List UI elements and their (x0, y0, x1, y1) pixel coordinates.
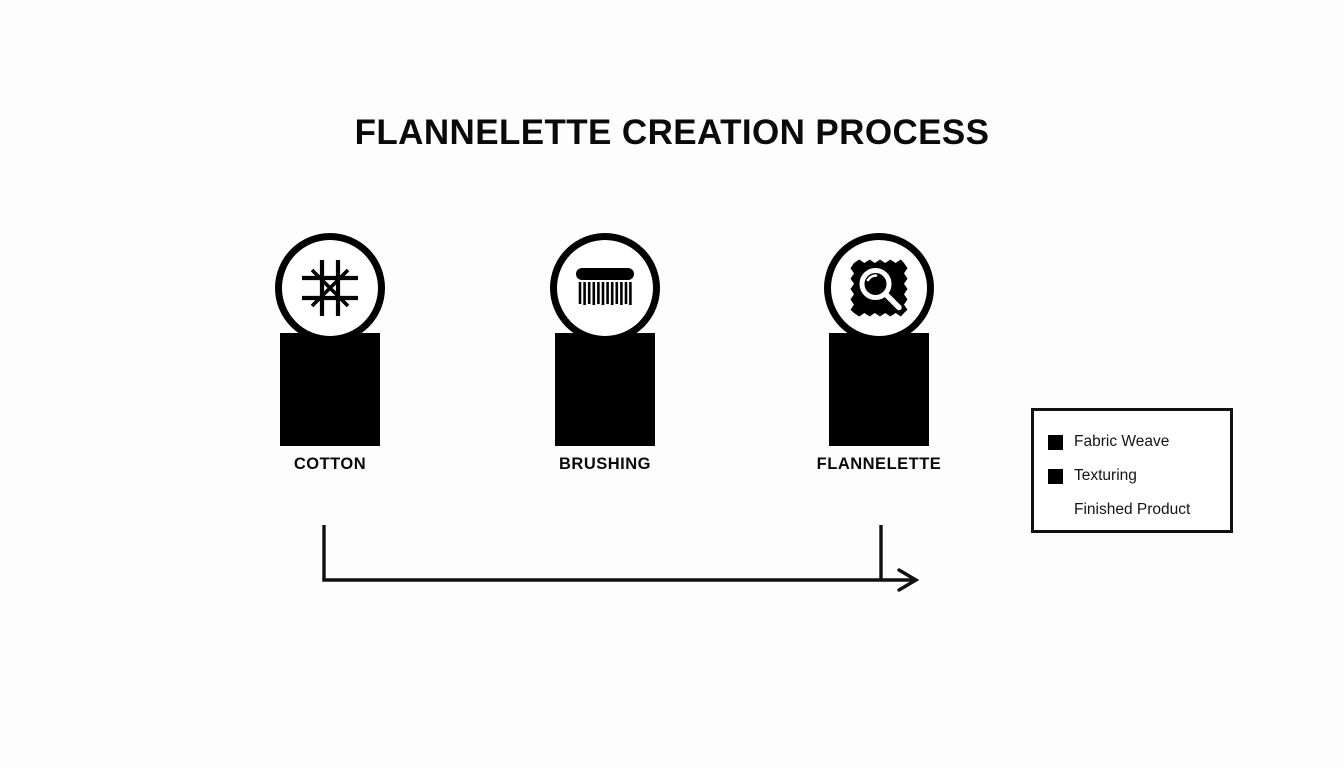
legend-item[interactable]: Finished Product (1048, 493, 1230, 527)
step-pillar (829, 333, 929, 446)
woven-grid-icon (299, 257, 361, 319)
brush-icon (573, 264, 637, 312)
legend-label-finished-product: Finished Product (1074, 502, 1190, 518)
step-label-brushing: BRUSHING (505, 455, 705, 474)
process-direction-arrow (315, 515, 935, 600)
legend-label-fabric-weave: Fabric Weave (1074, 434, 1169, 450)
step-icon-circle (550, 233, 660, 343)
step-icon-circle (275, 233, 385, 343)
process-step-cotton[interactable]: COTTON (230, 233, 430, 493)
legend-item[interactable]: Texturing (1048, 459, 1230, 493)
legend: Fabric Weave Texturing Finished Product (1031, 408, 1233, 533)
page-title: FLANNELETTE CREATION PROCESS (0, 113, 1344, 153)
legend-item[interactable]: Fabric Weave (1048, 425, 1230, 459)
diagram-canvas: FLANNELETTE CREATION PROCESS (0, 0, 1344, 768)
step-label-flannelette: FLANNELETTE (779, 455, 979, 474)
step-pillar (280, 333, 380, 446)
process-step-flannelette[interactable]: FLANNELETTE (779, 233, 979, 493)
legend-swatch-finished-product (1048, 503, 1063, 518)
step-pillar (555, 333, 655, 446)
step-label-cotton: COTTON (230, 455, 430, 474)
step-icon-circle (824, 233, 934, 343)
fabric-swatch-magnifier-icon (847, 256, 911, 320)
legend-swatch-texturing (1048, 469, 1063, 484)
legend-swatch-fabric-weave (1048, 435, 1063, 450)
process-step-brushing[interactable]: BRUSHING (505, 233, 705, 493)
legend-label-texturing: Texturing (1074, 468, 1137, 484)
